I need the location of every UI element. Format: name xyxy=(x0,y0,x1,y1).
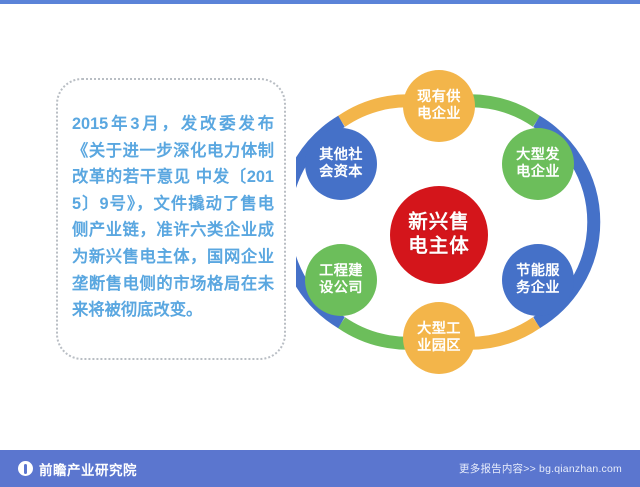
node-label-line2: 电企业 xyxy=(417,106,461,123)
footer-report-link[interactable]: 更多报告内容>> bg.qianzhan.com xyxy=(459,461,622,476)
qianzhan-logo-icon xyxy=(18,461,33,476)
node-label-line1: 其他社 xyxy=(319,147,363,164)
center-label-line1: 新兴售 xyxy=(408,211,470,235)
radial-ring-diagram: 现有供 电企业 大型发 电企业 节能服 务企业 大型工 业园区 工程建 设公司 … xyxy=(296,58,606,378)
node-center-new-power-retailers[interactable]: 新兴售 电主体 xyxy=(390,186,488,284)
node-energy-saving-service[interactable]: 节能服 务企业 xyxy=(502,244,574,316)
node-label-line2: 会资本 xyxy=(319,164,363,181)
node-existing-power-supply[interactable]: 现有供 电企业 xyxy=(403,70,475,142)
callout-box: 2015年3月，发改委发布《关于进一步深化电力体制改革的若干意见 中发〔2015… xyxy=(56,78,286,360)
node-label-line1: 大型工 xyxy=(417,321,461,338)
top-accent-bar xyxy=(0,0,640,4)
node-label-line2: 设公司 xyxy=(319,280,363,297)
brand-logo[interactable]: 前瞻产业研究院 xyxy=(18,459,137,479)
node-label-line1: 现有供 xyxy=(417,89,461,106)
node-large-industrial-park[interactable]: 大型工 业园区 xyxy=(403,302,475,374)
node-label-line1: 大型发 xyxy=(516,147,560,164)
node-label-line2: 业园区 xyxy=(417,338,461,355)
node-other-social-capital[interactable]: 其他社 会资本 xyxy=(305,128,377,200)
node-engineering-construction[interactable]: 工程建 设公司 xyxy=(305,244,377,316)
node-large-generation[interactable]: 大型发 电企业 xyxy=(502,128,574,200)
brand-name: 前瞻产业研究院 xyxy=(39,459,137,479)
center-label-line2: 电主体 xyxy=(408,235,470,259)
infographic-page: 2015年3月，发改委发布《关于进一步深化电力体制改革的若干意见 中发〔2015… xyxy=(0,0,640,487)
node-label-line2: 务企业 xyxy=(516,280,560,297)
node-label-line1: 工程建 xyxy=(319,263,363,280)
node-label-line2: 电企业 xyxy=(516,164,560,181)
callout-text: 2015年3月，发改委发布《关于进一步深化电力体制改革的若干意见 中发〔2015… xyxy=(72,111,274,324)
node-label-line1: 节能服 xyxy=(516,263,560,280)
footer-bar: 前瞻产业研究院 更多报告内容>> bg.qianzhan.com xyxy=(0,450,640,487)
